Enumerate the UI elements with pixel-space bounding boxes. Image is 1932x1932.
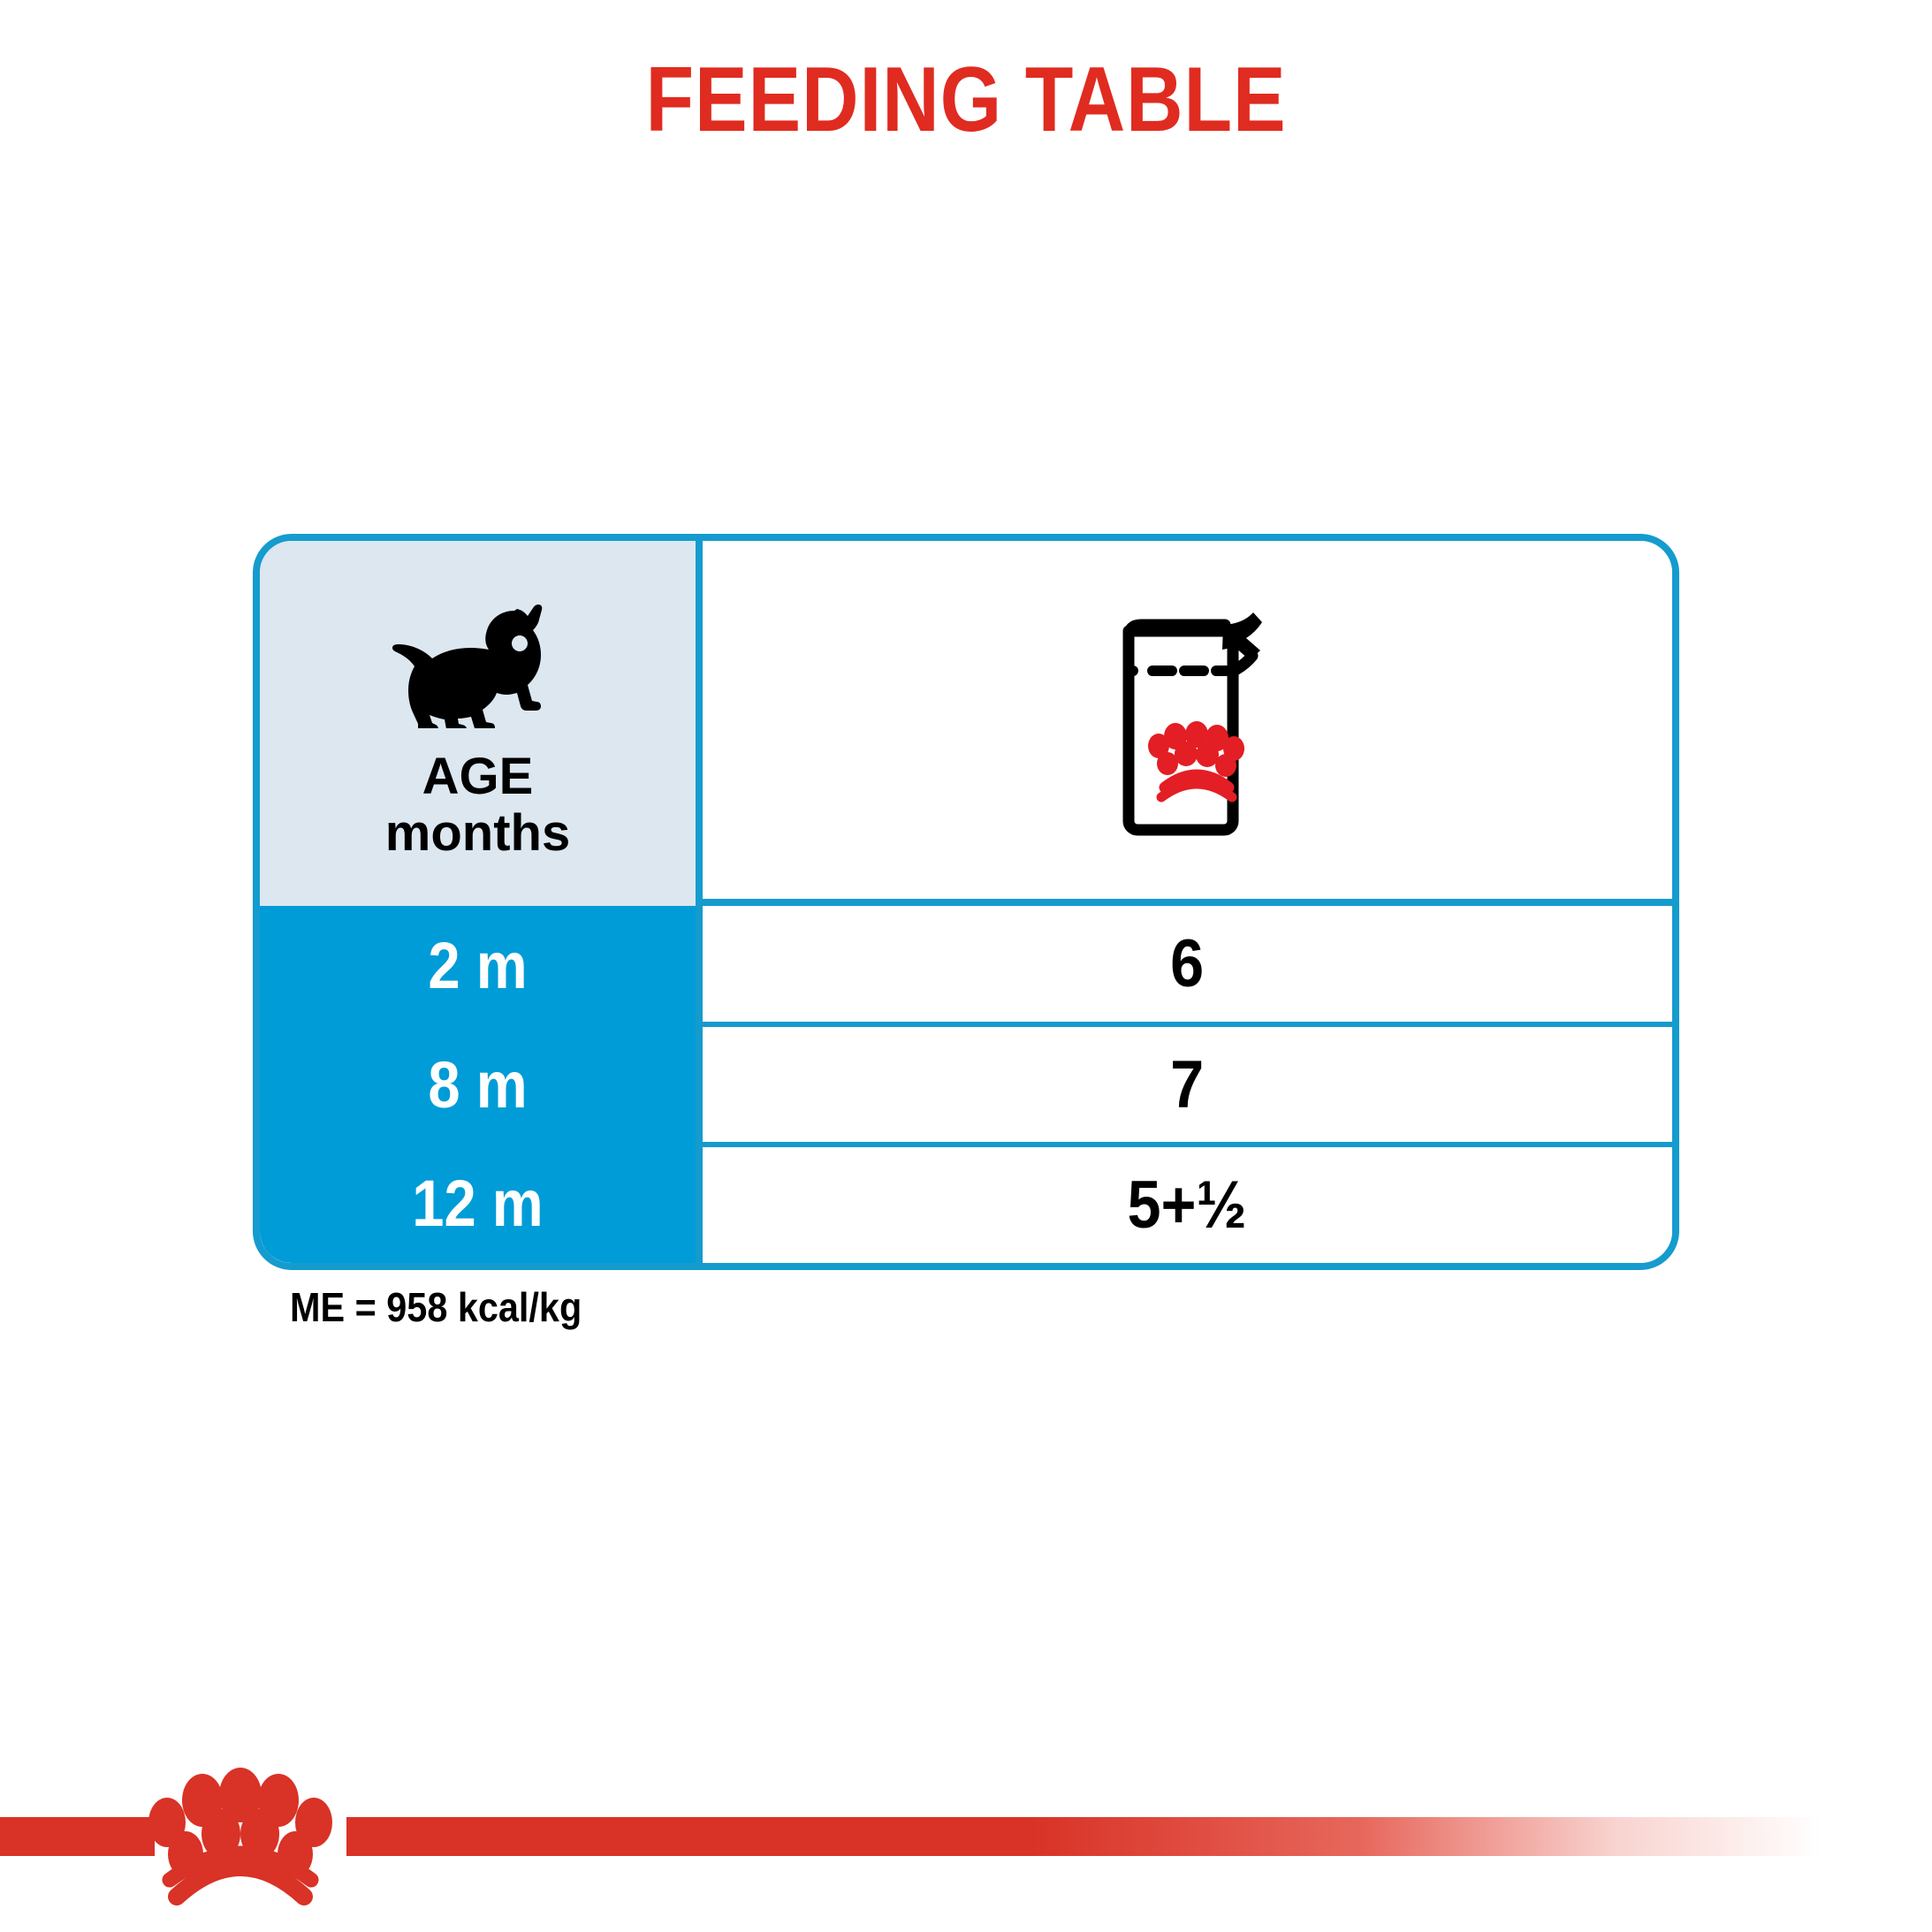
- age-column-header: AGE months: [260, 541, 696, 906]
- portion-column: 6 7 5+½: [696, 541, 1672, 1263]
- age-column-header-label: AGE months: [385, 751, 570, 859]
- portion-cell-row-2: 7: [703, 1027, 1672, 1148]
- footer: [0, 1750, 1932, 1932]
- age-cell-row-2: 8 m: [286, 1025, 670, 1145]
- metabolisable-energy-note: ME = 958 kcal/kg: [290, 1283, 582, 1331]
- royal-canin-crown-logo-icon: [134, 1757, 346, 1907]
- age-label-line2: months: [385, 808, 570, 859]
- pouch-icon: [1099, 602, 1276, 839]
- portion-cell-row-3: 5+½: [703, 1147, 1672, 1263]
- portion-value-row-1: 6: [1170, 925, 1204, 1002]
- portion-cell-row-1: 6: [703, 906, 1672, 1027]
- puppy-icon: [392, 605, 564, 728]
- age-values: 2 m 8 m 12 m: [260, 906, 696, 1263]
- footer-bar-right: [346, 1817, 1932, 1856]
- portion-column-header: [703, 541, 1672, 906]
- page-title: FEEDING TABLE: [135, 49, 1797, 150]
- age-label-line1: AGE: [385, 751, 570, 802]
- feeding-table-frame: AGE months 2 m 8 m 12 m: [253, 534, 1679, 1270]
- portion-value-row-2: 7: [1170, 1046, 1204, 1123]
- portion-value-row-3: 5+½: [1128, 1167, 1247, 1244]
- age-cell-row-1: 2 m: [286, 906, 670, 1025]
- age-cell-row-3: 12 m: [286, 1144, 670, 1263]
- age-column: AGE months 2 m 8 m 12 m: [260, 541, 696, 1263]
- footer-bar-left: [0, 1817, 155, 1856]
- feeding-table: AGE months 2 m 8 m 12 m: [253, 534, 1679, 1270]
